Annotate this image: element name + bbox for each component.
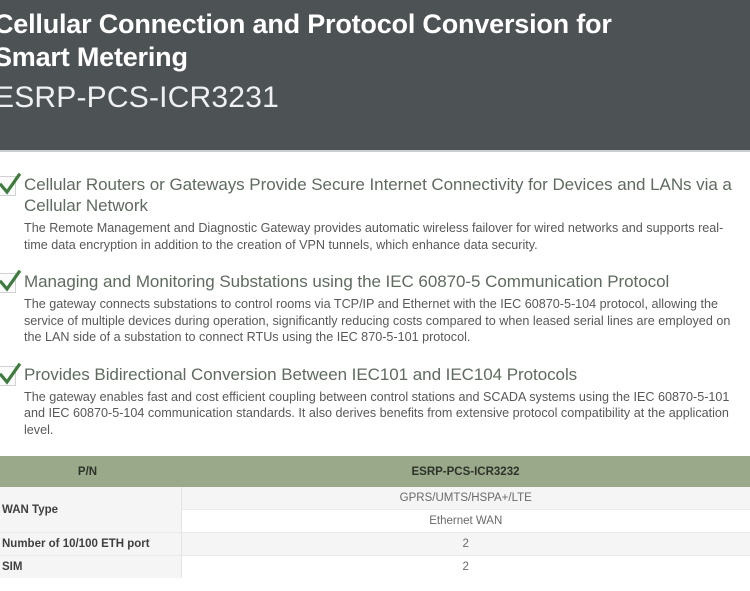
spec-table-body: WAN Type GPRS/UMTS/HSPA+/LTE Ethernet WA… bbox=[0, 487, 750, 578]
table-header-row: P/N ESRP-PCS-ICR3232 bbox=[0, 456, 750, 487]
feature-body: The Remote Management and Diagnostic Gat… bbox=[24, 220, 744, 253]
column-header-model: ESRP-PCS-ICR3232 bbox=[181, 456, 750, 487]
row-value: 2 bbox=[181, 556, 750, 579]
page-title-line-1: Cellular Connection and Protocol Convers… bbox=[0, 9, 612, 39]
feature-title: Managing and Monitoring Substations usin… bbox=[24, 271, 744, 292]
spec-table: P/N ESRP-PCS-ICR3232 WAN Type GPRS/UMTS/… bbox=[0, 456, 750, 578]
feature-title: Provides Bidirectional Conversion Betwee… bbox=[24, 364, 744, 385]
page-title: Cellular Connection and Protocol Convers… bbox=[0, 8, 740, 74]
column-header-pn: P/N bbox=[0, 456, 181, 487]
table-row: Number of 10/100 ETH port 2 bbox=[0, 533, 750, 556]
table-row: WAN Type GPRS/UMTS/HSPA+/LTE bbox=[0, 487, 750, 510]
spec-table-head: P/N ESRP-PCS-ICR3232 bbox=[0, 456, 750, 487]
feature-item: Managing and Monitoring Substations usin… bbox=[0, 271, 750, 346]
product-name: ESRP-PCS-ICR3231 bbox=[0, 78, 740, 118]
feature-body: The gateway enables fast and cost effici… bbox=[24, 389, 744, 439]
row-value: GPRS/UMTS/HSPA+/LTE bbox=[181, 487, 750, 510]
page-title-line-2: Smart Metering bbox=[0, 41, 740, 74]
feature-item: Provides Bidirectional Conversion Betwee… bbox=[0, 364, 750, 439]
green-check-icon bbox=[0, 366, 16, 386]
row-label-eth-ports: Number of 10/100 ETH port bbox=[0, 533, 181, 556]
green-check-icon bbox=[0, 273, 16, 293]
feature-title: Cellular Routers or Gateways Provide Sec… bbox=[24, 174, 744, 216]
green-check-icon bbox=[0, 176, 16, 196]
row-label-sim: SIM bbox=[0, 556, 181, 579]
feature-list: Cellular Routers or Gateways Provide Sec… bbox=[0, 152, 750, 438]
row-value: 2 bbox=[181, 533, 750, 556]
table-row: SIM 2 bbox=[0, 556, 750, 579]
spec-table-container: P/N ESRP-PCS-ICR3232 WAN Type GPRS/UMTS/… bbox=[0, 456, 750, 578]
hero-banner: Cellular Connection and Protocol Convers… bbox=[0, 0, 750, 152]
feature-body: The gateway connects substations to cont… bbox=[24, 296, 744, 346]
row-value: Ethernet WAN bbox=[181, 510, 750, 533]
feature-item: Cellular Routers or Gateways Provide Sec… bbox=[0, 174, 750, 253]
row-label-wan-type: WAN Type bbox=[0, 487, 181, 533]
hero-content: Cellular Connection and Protocol Convers… bbox=[0, 8, 750, 118]
